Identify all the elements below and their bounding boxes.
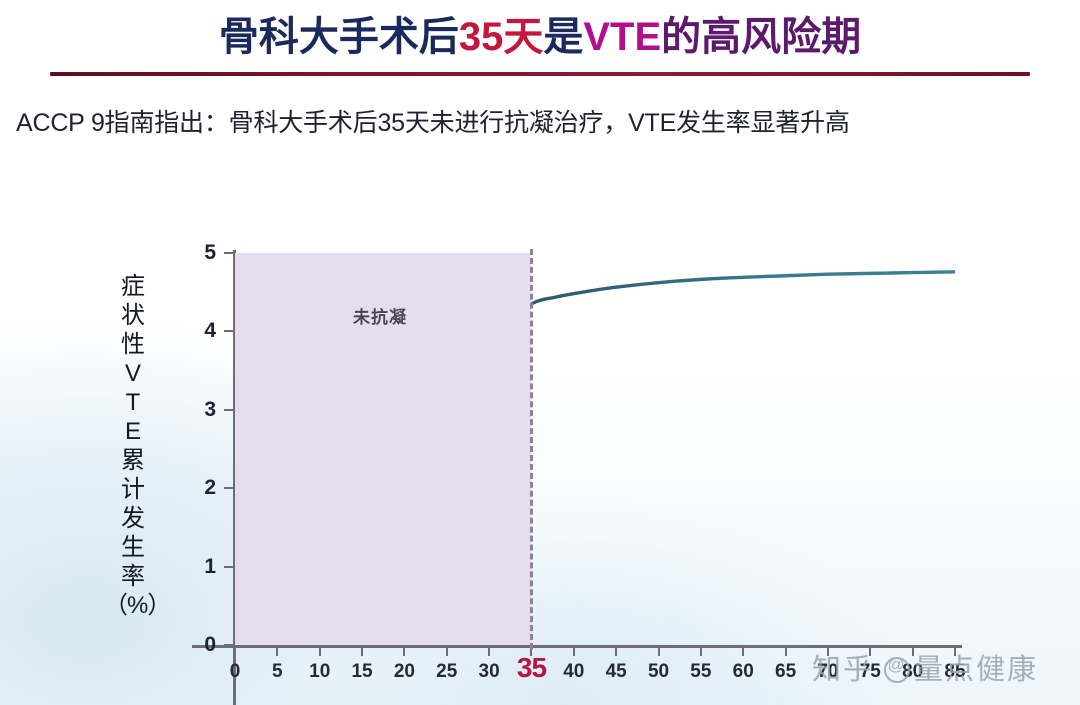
x-axis-tick <box>403 645 405 656</box>
watermark-source: 知乎 <box>812 654 874 686</box>
x-axis-tick <box>700 645 702 656</box>
page-title: 骨科大手术后35天是VTE的高风险期 <box>0 12 1080 62</box>
x-axis-tick <box>276 645 278 656</box>
y-axis-title-char: 计 <box>104 475 162 504</box>
chart-area: 症状性VTE累计发生率（%） 012345 051015202530354045… <box>0 180 1080 705</box>
y-axis-tick-label: 4 <box>182 320 216 341</box>
x-axis-tick <box>446 645 448 656</box>
title-segment-magenta: VTE <box>583 15 661 59</box>
y-axis-tick-label: 5 <box>182 242 216 263</box>
title-block: 骨科大手术后35天是VTE的高风险期 <box>0 12 1080 62</box>
x-axis-tick <box>573 645 575 656</box>
x-axis-tick <box>742 645 744 656</box>
y-axis-title: 症状性VTE累计发生率（%） <box>104 272 162 620</box>
subtitle-text: ACCP 9指南指出：骨科大手术后35天未进行抗凝治疗，VTE发生率显著升高 <box>16 106 1080 140</box>
y-axis-title-char: E <box>104 417 162 446</box>
title-segment-plum: 的高风险期 <box>661 15 861 59</box>
cutoff-line-day35 <box>530 249 533 649</box>
y-axis-title-char: 发 <box>104 504 162 533</box>
title-underline-rule <box>50 72 1030 76</box>
y-axis-title-char: 状 <box>104 301 162 330</box>
x-axis-tick <box>488 645 490 656</box>
title-segment-crimson: 35天 <box>459 15 544 59</box>
x-axis-tick <box>319 645 321 656</box>
watermark-at-icon <box>884 657 910 683</box>
watermark-account: 量点健康 <box>914 654 1038 686</box>
y-axis-tick-label: 1 <box>182 556 216 577</box>
y-axis-title-char: 生 <box>104 533 162 562</box>
y-axis-title-char: T <box>104 388 162 417</box>
x-axis-tick <box>785 645 787 656</box>
y-axis-tick-label: 2 <box>182 477 216 498</box>
y-axis-title-char: 率 <box>104 562 162 591</box>
y-axis-title-char: 性 <box>104 330 162 359</box>
x-axis-tick <box>234 645 236 656</box>
x-axis-tick <box>361 645 363 656</box>
x-axis-tick <box>615 645 617 656</box>
plot-frame: 未抗凝 <box>235 253 955 645</box>
y-axis-title-unit: （%） <box>104 591 162 620</box>
title-segment-navy-1: 骨科大手术后 <box>219 15 459 59</box>
title-segment-navy-2: 是 <box>543 15 583 59</box>
x-axis-tick <box>658 645 660 656</box>
y-axis-title-char: 症 <box>104 272 162 301</box>
y-axis-tick-label: 0 <box>182 634 216 655</box>
y-axis-title-char: V <box>104 359 162 388</box>
y-axis-title-char: 累 <box>104 446 162 475</box>
watermark: 知乎 量点健康 <box>812 646 1038 688</box>
shaded-region-label: 未抗凝 <box>353 303 407 328</box>
y-axis-tick-label: 3 <box>182 399 216 420</box>
